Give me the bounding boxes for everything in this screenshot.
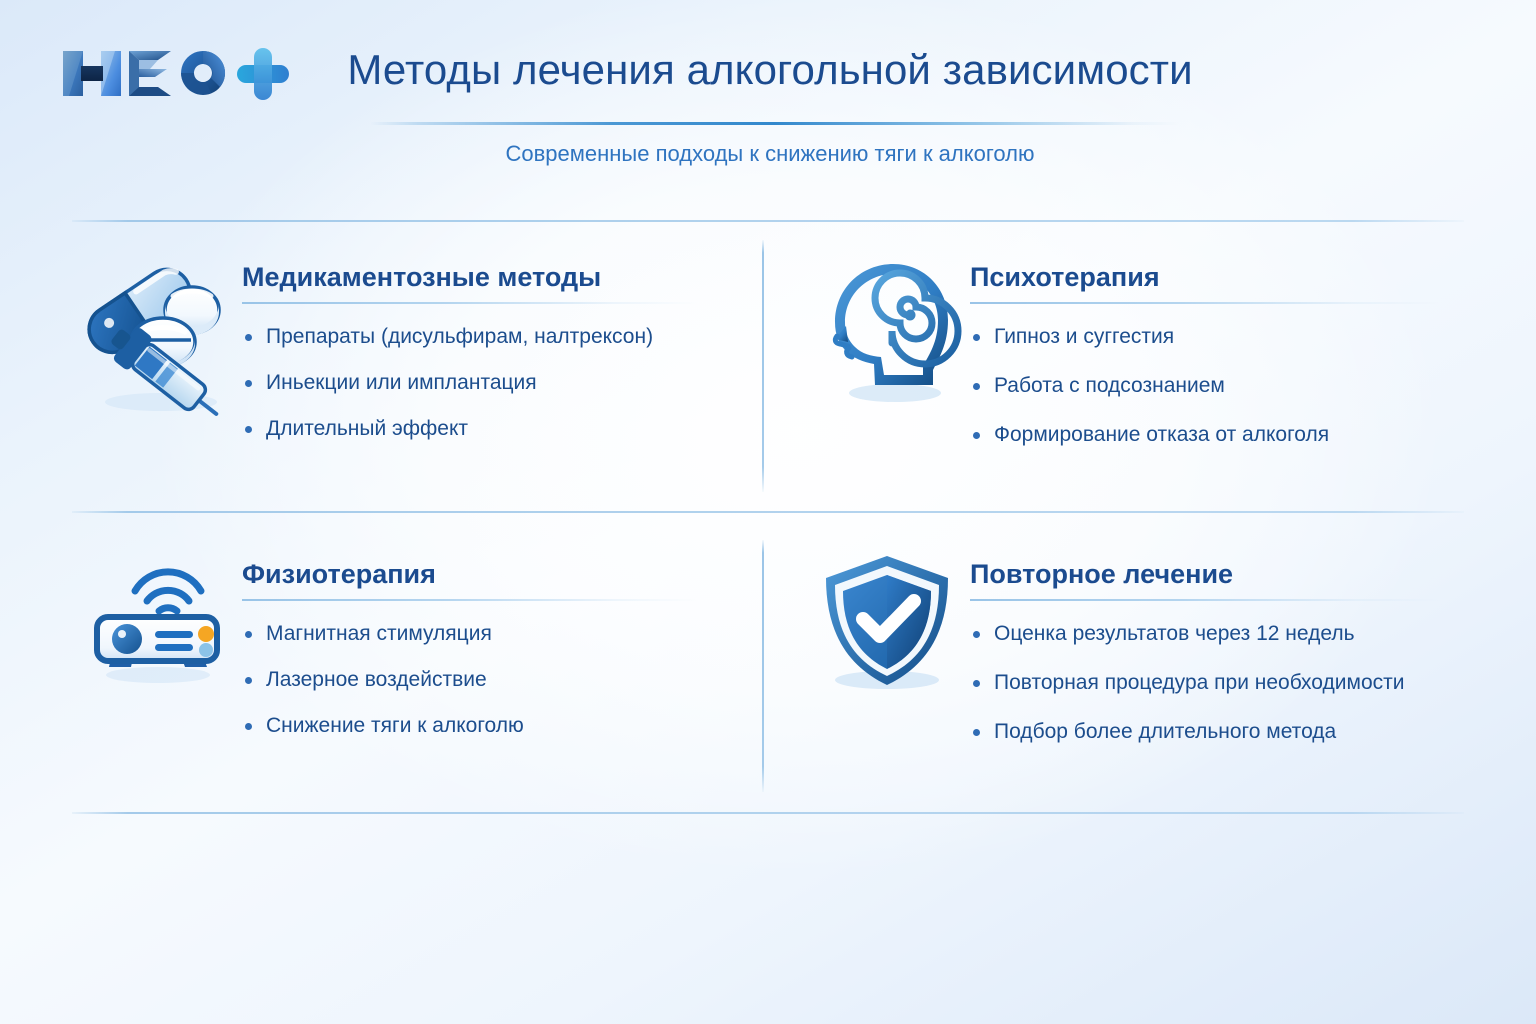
list-item: Формирование отказа от алкоголя xyxy=(970,421,1465,448)
card-repeat-treatment-icon-wrap xyxy=(805,545,970,699)
card-physiotherapy-list: Магнитная стимуляция Лазерное воздействи… xyxy=(242,620,732,739)
card-physiotherapy: Физиотерапия Магнитная стимуляция Лазерн… xyxy=(72,545,732,739)
divider-top xyxy=(72,220,1464,222)
card-repeat-treatment-underline xyxy=(970,599,1440,601)
divider-vertical-upper xyxy=(762,240,764,492)
list-item: Длительный эффект xyxy=(242,415,732,442)
card-psychotherapy-body: Психотерапия Гипноз и суггестия Работа с… xyxy=(970,248,1465,470)
card-psychotherapy: Психотерапия Гипноз и суггестия Работа с… xyxy=(805,248,1465,470)
card-psychotherapy-title: Психотерапия xyxy=(970,260,1465,294)
card-physiotherapy-underline xyxy=(242,599,697,601)
therapy-device-icon xyxy=(80,549,235,689)
card-repeat-treatment-body: Повторное лечение Оценка результатов чер… xyxy=(970,545,1465,767)
card-medication-title: Медикаментозные методы xyxy=(242,260,732,294)
card-medication-underline xyxy=(242,302,697,304)
divider-bottom xyxy=(72,812,1464,814)
card-psychotherapy-list: Гипноз и суггестия Работа с подсознанием… xyxy=(970,323,1465,448)
page-title: Методы лечения алкогольной зависимости xyxy=(300,44,1240,96)
title-underline xyxy=(370,122,1180,125)
divider-vertical-lower xyxy=(762,540,764,792)
card-medication-body: Медикаментозные методы Препараты (дисуль… xyxy=(242,248,732,442)
page-subtitle: Современные подходы к снижению тяги к ал… xyxy=(300,138,1240,170)
list-item: Гипноз и суггестия xyxy=(970,323,1465,350)
neo-plus-logo-icon xyxy=(55,38,295,106)
header: Методы лечения алкогольной зависимости С… xyxy=(0,0,1536,200)
list-item: Лазерное воздействие xyxy=(242,666,732,693)
card-psychotherapy-icon-wrap xyxy=(805,248,970,412)
list-item: Иньекции или имплантация xyxy=(242,369,732,396)
card-physiotherapy-icon-wrap xyxy=(72,545,242,689)
brand-logo[interactable] xyxy=(55,38,295,106)
card-medication: Медикаментозные методы Препараты (дисуль… xyxy=(72,248,732,442)
list-item: Магнитная стимуляция xyxy=(242,620,732,647)
list-item: Снижение тяги к алкоголю xyxy=(242,712,732,739)
divider-middle xyxy=(72,511,1464,513)
card-medication-icon-wrap xyxy=(72,248,242,417)
infographic-canvas: Методы лечения алкогольной зависимости С… xyxy=(0,0,1536,1024)
list-item: Повторная процедура при необходимости xyxy=(970,669,1465,696)
card-medication-list: Препараты (дисульфирам, налтрексон) Инье… xyxy=(242,323,732,442)
card-repeat-treatment: Повторное лечение Оценка результатов чер… xyxy=(805,545,1465,767)
card-psychotherapy-underline xyxy=(970,302,1440,304)
head-spiral-icon xyxy=(813,252,963,412)
list-item: Оценка результатов через 12 недель xyxy=(970,620,1465,647)
list-item: Подбор более длительного метода xyxy=(970,718,1465,745)
card-repeat-treatment-title: Повторное лечение xyxy=(970,557,1465,591)
card-repeat-treatment-list: Оценка результатов через 12 недель Повто… xyxy=(970,620,1465,745)
pills-syringe-icon xyxy=(77,252,237,417)
list-item: Работа с подсознанием xyxy=(970,372,1465,399)
shield-check-icon xyxy=(815,549,960,699)
list-item: Препараты (дисульфирам, налтрексон) xyxy=(242,323,732,350)
card-physiotherapy-title: Физиотерапия xyxy=(242,557,732,591)
card-physiotherapy-body: Физиотерапия Магнитная стимуляция Лазерн… xyxy=(242,545,732,739)
